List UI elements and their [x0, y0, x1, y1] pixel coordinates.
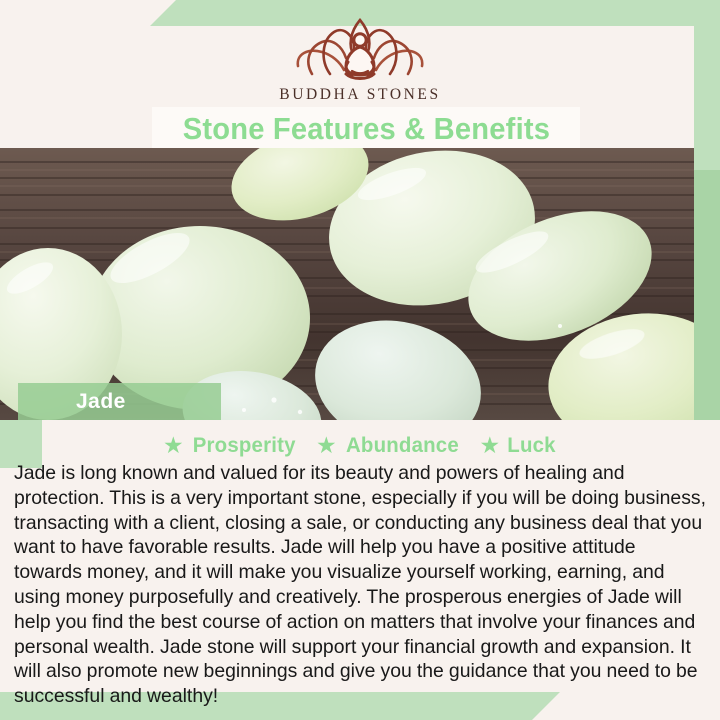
- benefit-label: Abundance: [346, 433, 459, 458]
- benefit-item: ★ Abundance: [316, 433, 462, 458]
- lotus-meditation-icon: [288, 14, 432, 84]
- stone-description: Jade is long known and valued for its be…: [14, 461, 708, 709]
- benefit-item: ★ Prosperity: [163, 433, 298, 458]
- benefit-item: ★ Luck: [479, 433, 557, 458]
- star-icon: ★: [163, 434, 184, 457]
- page-title: Stone Features & Benefits: [182, 111, 549, 147]
- stone-photo-illustration: [0, 148, 694, 420]
- decor-band-right-middle: [694, 170, 720, 420]
- benefits-row: ★ Prosperity ★ Abundance ★ Luck: [0, 430, 720, 460]
- card-header: BUDDHA STONES Stone Features & Benefits: [0, 0, 720, 148]
- stone-photo: [0, 148, 694, 420]
- stone-name: Jade: [76, 390, 126, 414]
- title-banner: Stone Features & Benefits: [152, 107, 580, 150]
- star-icon: ★: [316, 434, 337, 457]
- star-icon: ★: [479, 434, 500, 457]
- stone-info-card: BUDDHA STONES Stone Features & Benefits: [0, 0, 720, 720]
- benefit-label: Prosperity: [192, 433, 295, 458]
- brand-logo: BUDDHA STONES: [0, 14, 720, 104]
- stone-name-bar: Jade: [18, 383, 221, 420]
- brand-name: BUDDHA STONES: [279, 86, 440, 104]
- benefit-label: Luck: [507, 433, 555, 458]
